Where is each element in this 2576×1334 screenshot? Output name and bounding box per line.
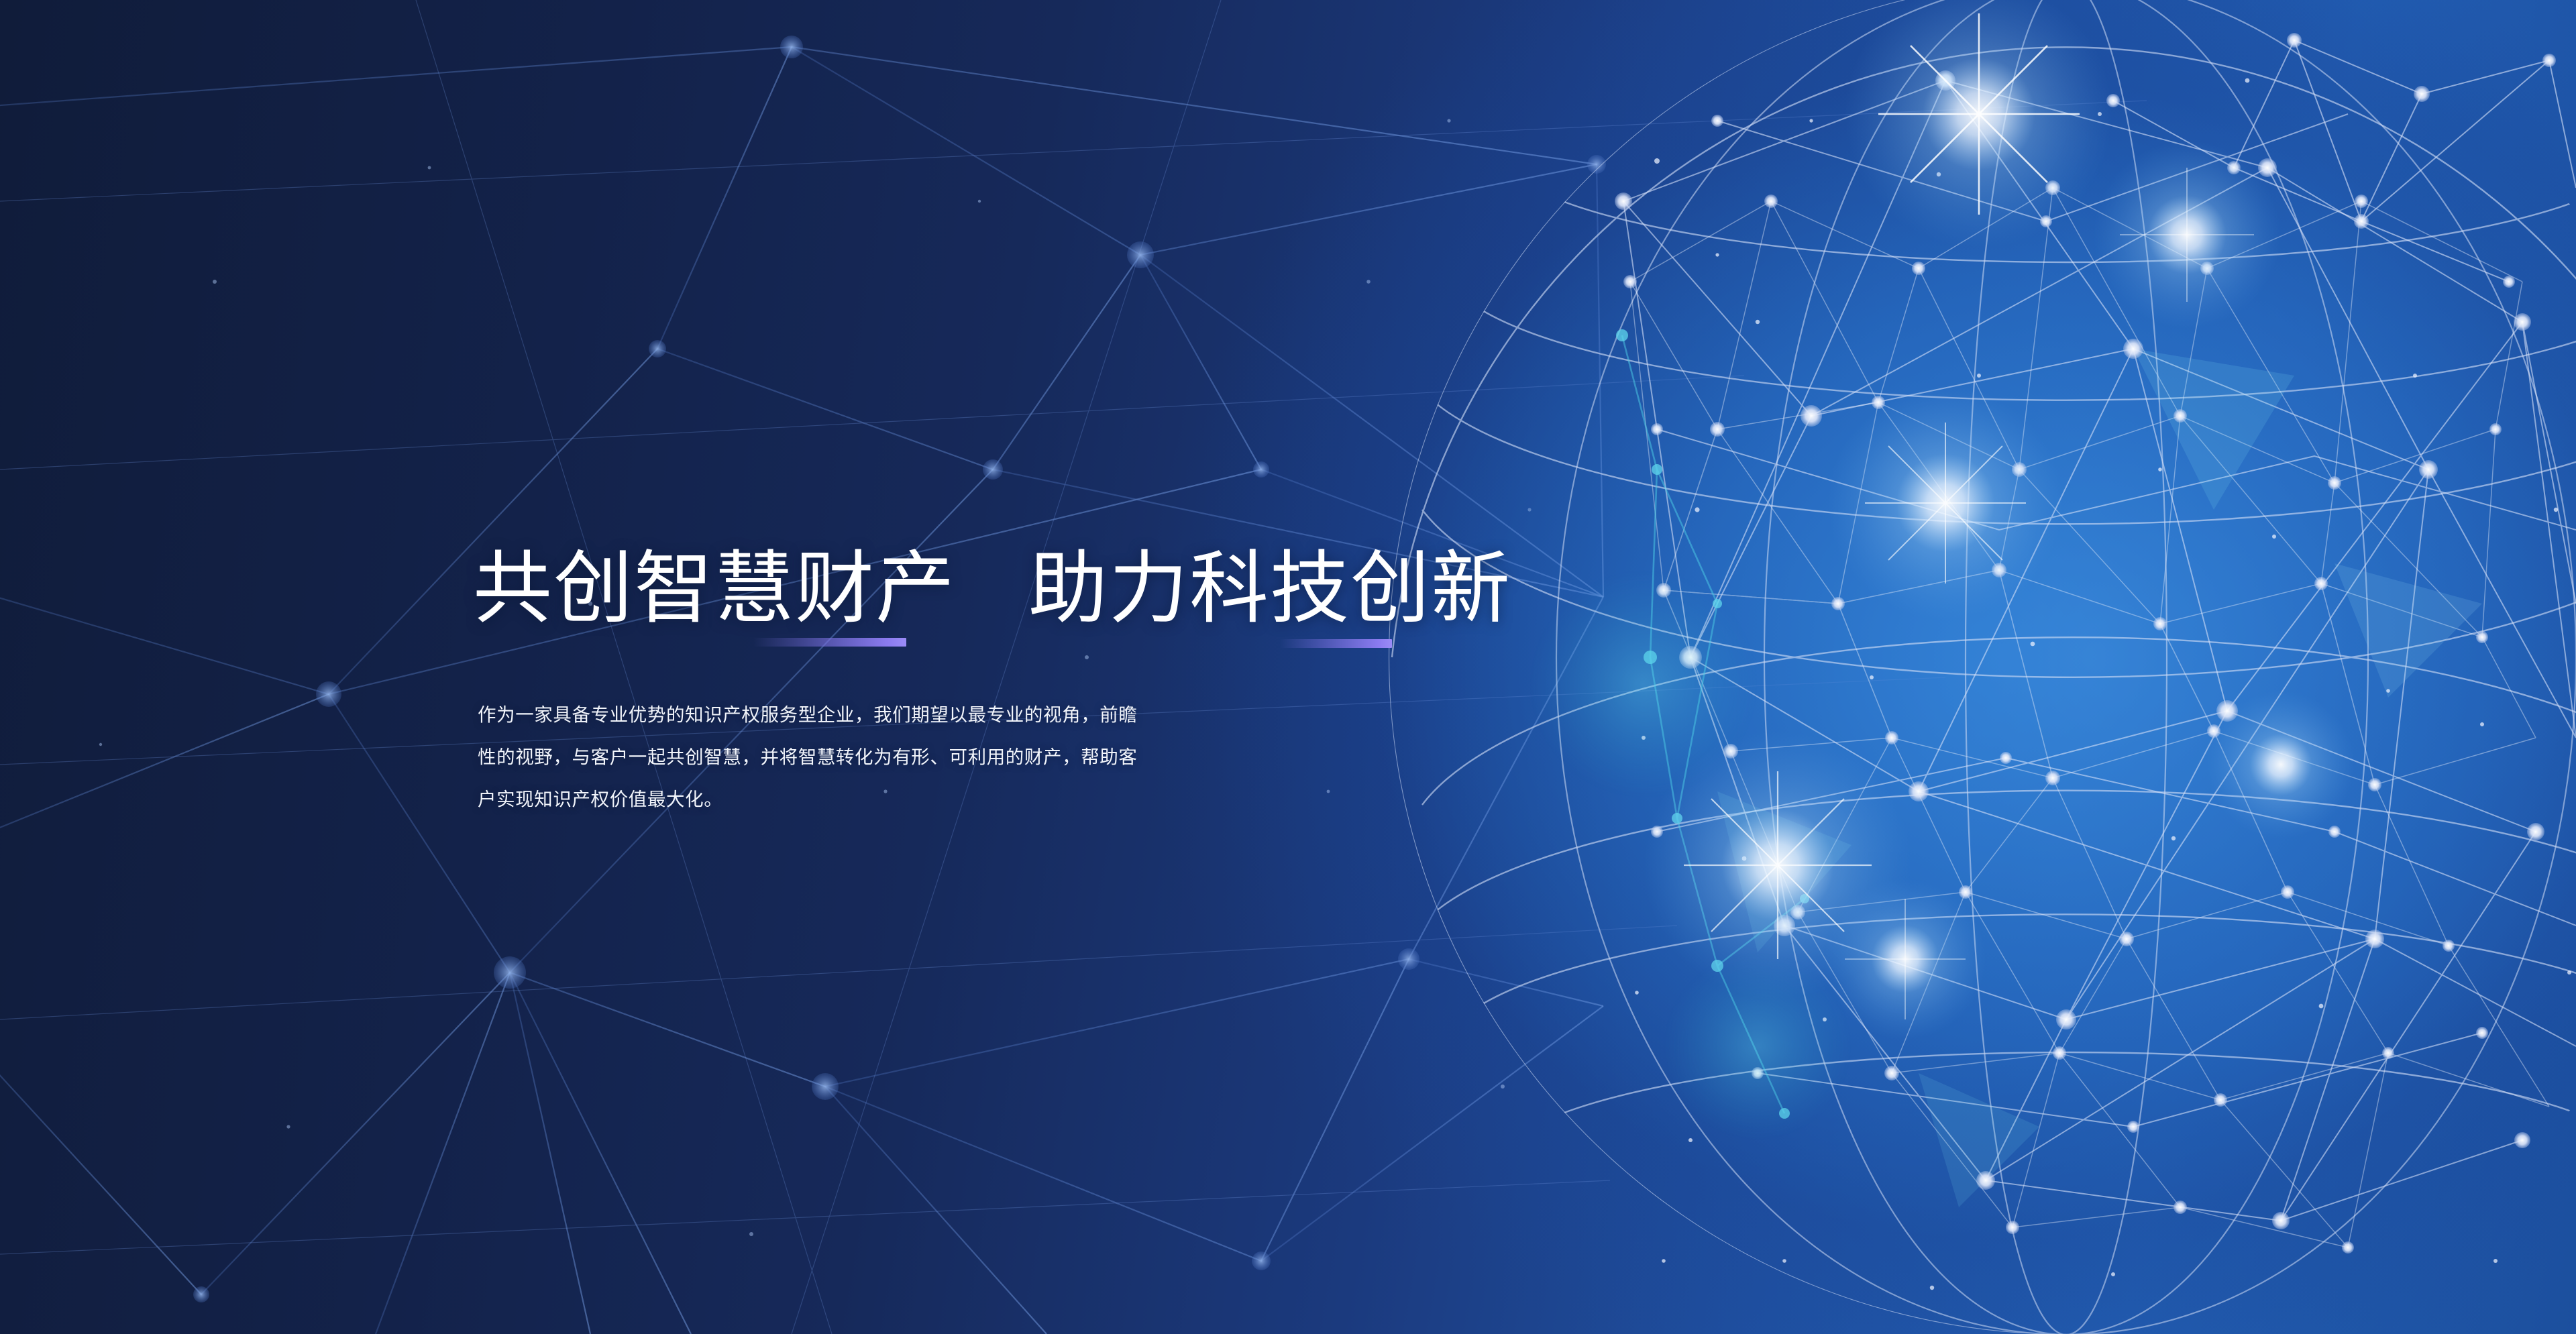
headline-part-1: 共创智慧财产 (473, 545, 956, 633)
banner-description: 作为一家具备专业优势的知识产权服务型企业，我们期望以最专业的视角，前瞻 性的视野… (478, 693, 1430, 820)
page-title: 共创智慧财产助力科技创新 (473, 545, 1511, 633)
headline-part-2: 助力科技创新 (1028, 545, 1511, 633)
left-network-graphic (0, 0, 2576, 1334)
description-line: 作为一家具备专业优势的知识产权服务型企业，我们期望以最专业的视角，前瞻 (478, 693, 1430, 736)
headline-accent-bar-2 (1280, 639, 1392, 648)
description-line: 户实现知识产权价值最大化。 (478, 778, 1430, 820)
headline-accent-bar-1 (753, 638, 906, 647)
network-globe-graphic (0, 0, 2576, 1334)
hero-banner: 共创智慧财产助力科技创新 作为一家具备专业优势的知识产权服务型企业，我们期望以最… (0, 0, 2576, 1334)
flare-glow (1644, 0, 2355, 1040)
description-line: 性的视野，与客户一起共创智慧，并将智慧转化为有形、可利用的财产，帮助客 (478, 736, 1430, 778)
